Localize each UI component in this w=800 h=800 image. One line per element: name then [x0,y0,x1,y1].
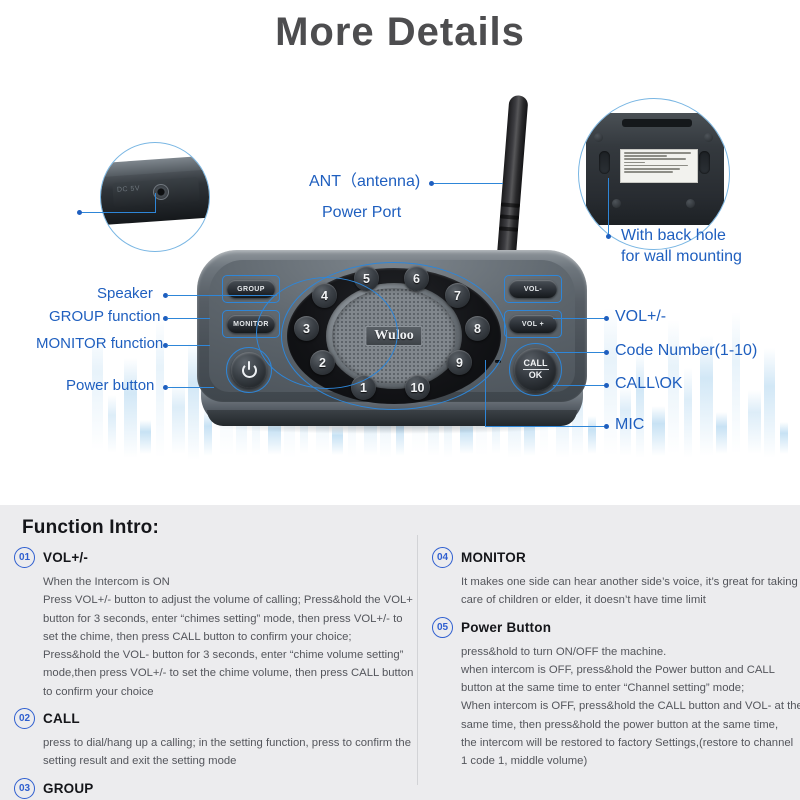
leader-power-port-v [155,193,156,213]
device-base-lip [207,410,577,426]
leader-power-port-h [80,212,156,213]
function-item-line: to confirm your choice [43,683,414,701]
leader-mic-v [485,360,486,426]
callout-speaker: Speaker [97,285,153,304]
leader-dot-vol [604,316,609,321]
function-item-line: button at the same time to enter “Channe… [461,679,792,697]
callout-vol: VOL+/- [615,307,666,327]
function-item-line: care of children or elder, it doesn’t ha… [461,591,792,609]
function-item-title: GROUP [43,781,94,796]
leader-dot-mic [604,424,609,429]
screw-icon [594,133,603,142]
function-item-line: 1 code 1, middle volume) [461,752,792,770]
spec-label-sticker [620,149,698,183]
leader-power-btn [167,387,214,388]
key-9[interactable]: 9 [447,350,472,375]
column-divider [417,535,418,785]
function-item-line: button for 3 seconds, enter “chimes sett… [43,610,414,628]
function-item-line: press to dial/hang up a calling; in the … [43,734,414,752]
function-item-number-badge: 05 [432,617,453,638]
keypad-ring: Wuloo 1 2 3 4 5 6 7 8 9 10 [287,268,501,404]
function-item: 02CALLpress to dial/hang up a calling; i… [14,708,414,771]
ok-label: OK [529,371,543,380]
callout-back-hole-1: With back hole [621,226,726,246]
vol-down-button[interactable]: VOL- [509,280,557,298]
callout-mic: MIC [615,415,644,435]
function-item: 01VOL+/-When the Intercom is ONPress VOL… [14,547,414,701]
function-item-body: It makes one side can hear another side’… [461,573,792,610]
key-10[interactable]: 10 [405,375,430,400]
function-item-line: Press VOL+/- button to adjust the volume… [43,591,414,609]
function-item-header: 01VOL+/- [14,547,414,568]
microphone-hole [495,360,501,363]
function-item: 04MONITORIt makes one side can hear anot… [432,547,792,610]
key-4[interactable]: 4 [312,283,337,308]
function-item-line: press&hold to turn ON/OFF the machine. [461,643,792,661]
intercom-device: Wuloo 1 2 3 4 5 6 7 8 9 10 [197,250,587,435]
leader-ant [433,183,503,184]
leader-dot-back-hole [606,234,611,239]
callout-back-hole-2: for wall mounting [621,247,742,267]
callout-ant: ANT（antenna) [309,172,420,192]
device-back-body [586,113,724,225]
callout-call-ok: CALL\OK [615,374,683,394]
power-button[interactable] [231,352,267,388]
leader-call [553,385,606,386]
key-5[interactable]: 5 [354,266,379,291]
function-item-number-badge: 03 [14,778,35,799]
function-item-line: mode,then press VOL+/- to set the chime … [43,664,414,682]
function-item-header: 02CALL [14,708,414,729]
leader-dot-code [604,350,609,355]
monitor-button[interactable]: MONITOR [227,315,275,333]
callout-power-button: Power button [66,377,154,396]
function-intro-heading: Function Intro: [22,517,159,539]
key-3[interactable]: 3 [294,316,319,341]
function-item-body: press to dial/hang up a calling; in the … [43,734,414,771]
leader-dot-power-port [77,210,82,215]
function-intro-panel: Function Intro: 01VOL+/-When the Interco… [0,505,800,800]
leader-back-hole-v [608,178,609,236]
product-hero: DC 5V [0,60,800,500]
function-item-line: set the chime, then press CALL button to… [43,628,414,646]
function-item-line: Press&hold the VOL- button for 3 seconds… [43,646,414,664]
function-item-header: 04MONITOR [432,547,792,568]
callout-power-port: Power Port [322,203,401,223]
function-item-line: same time, then press&hold the power but… [461,716,792,734]
function-item-title: VOL+/- [43,550,88,565]
function-list-right: 04MONITORIt makes one side can hear anot… [432,547,792,778]
function-item-line: setting result and exit the setting mode [43,752,414,770]
key-6[interactable]: 6 [404,266,429,291]
callout-monitor: MONITOR function [36,335,163,354]
function-list-left: 01VOL+/-When the Intercom is ONPress VOL… [14,547,414,800]
function-item-line: the intercom will be restored to factory… [461,734,792,752]
screw-icon [612,199,621,208]
device-top-shell: Wuloo 1 2 3 4 5 6 7 8 9 10 [197,250,587,402]
leader-mic-h [485,426,606,427]
page-title: More Details [0,10,800,55]
wall-mount-keyhole [699,151,710,174]
function-item-line: When the Intercom is ON [43,573,414,591]
vol-up-button[interactable]: VOL + [509,315,557,333]
function-item-body: When the Intercom is ONPress VOL+/- butt… [43,573,414,701]
back-slot [622,119,692,127]
function-item-title: CALL [43,711,80,726]
function-item-line: When intercom is OFF, press&hold the CAL… [461,697,792,715]
leader-code [548,352,606,353]
function-item: 05Power Buttonpress&hold to turn ON/OFF … [432,617,792,771]
function-item-title: MONITOR [461,550,526,565]
callout-code-number: Code Number(1-10) [615,341,757,361]
key-2[interactable]: 2 [310,350,335,375]
call-ok-button[interactable]: CALL OK [514,348,557,391]
function-item: 03GROUPPress& hold to talk to all the me… [14,778,414,800]
key-8[interactable]: 8 [465,316,490,341]
screw-icon [686,199,695,208]
speaker-mesh: Wuloo [332,288,456,384]
antenna [497,95,528,256]
leader-speaker [167,295,277,296]
infographic-page: More Details DC 5V [0,0,800,800]
leader-dot-ant [429,181,434,186]
key-7[interactable]: 7 [445,283,470,308]
leader-monitor [167,345,210,346]
leader-dot-call [604,383,609,388]
function-item-number-badge: 02 [14,708,35,729]
wall-mount-keyhole [599,151,610,174]
function-item-header: 03GROUP [14,778,414,799]
key-1[interactable]: 1 [351,375,376,400]
function-item-line: when intercom is OFF, press&hold the Pow… [461,661,792,679]
screw-icon [704,133,713,142]
speaker: Wuloo [326,283,462,389]
power-icon [242,363,257,378]
callout-group: GROUP function [49,308,160,327]
function-item-header: 05Power Button [432,617,792,638]
function-item-number-badge: 04 [432,547,453,568]
leader-group [167,318,210,319]
leader-vol [553,318,606,319]
function-item-title: Power Button [461,620,551,635]
function-item-line: It makes one side can hear another side’… [461,573,792,591]
device-face: Wuloo 1 2 3 4 5 6 7 8 9 10 [209,260,575,392]
function-item-body: press&hold to turn ON/OFF the machine.wh… [461,643,792,771]
call-label: CALL [524,359,548,368]
brand-logo: Wuloo [365,326,422,346]
function-item-number-badge: 01 [14,547,35,568]
